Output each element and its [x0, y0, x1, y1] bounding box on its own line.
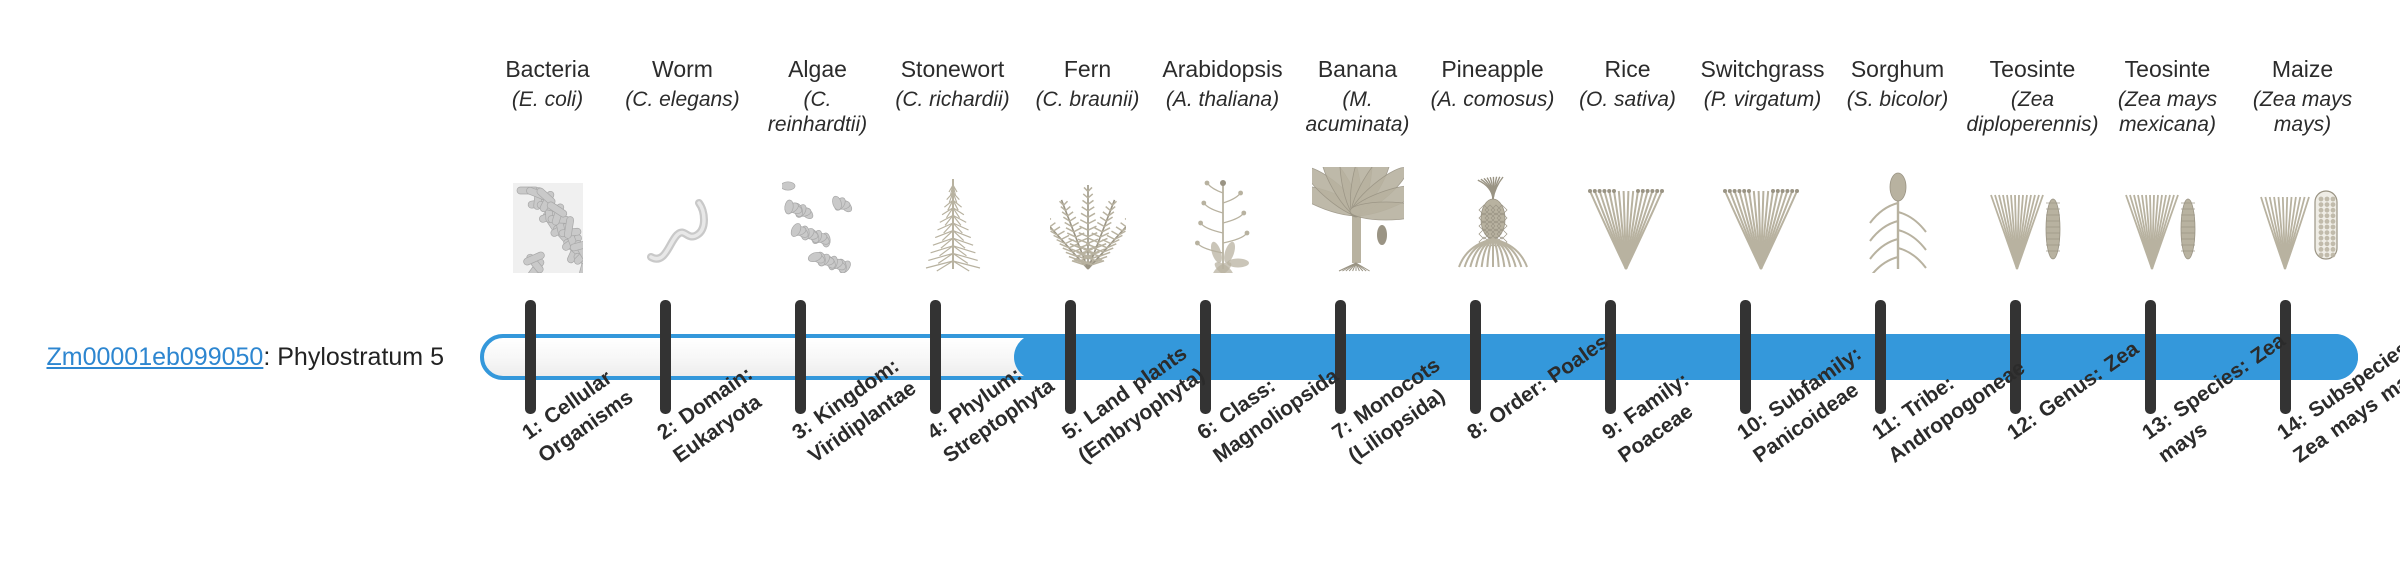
species-common-name: Algae [750, 56, 885, 82]
species-common-name: Worm [615, 56, 750, 82]
rice-grass-icon [1560, 168, 1695, 273]
species-column: Arabidopsis(A. thaliana) [1155, 56, 1290, 113]
species-scientific-name: (Zea diploperennis) [1965, 88, 2100, 136]
species-common-name: Fern [1020, 56, 1155, 82]
gene-phylostratum-value: Phylostratum 5 [277, 343, 444, 371]
species-column: Fern(C. braunii) [1020, 56, 1155, 113]
teosinte-diplo-icon [1965, 168, 2100, 273]
species-column: Teosinte(Zea mays mexicana) [2100, 56, 2235, 137]
stratum-number: 4: [923, 415, 952, 445]
species-column: Teosinte(Zea diploperennis) [1965, 56, 2100, 137]
species-common-name: Switchgrass [1695, 56, 1830, 82]
species-column: Maize(Zea mays mays) [2235, 56, 2370, 137]
species-scientific-name: (A. comosus) [1425, 88, 1560, 112]
species-common-name: Bacteria [480, 56, 615, 82]
stratum-number: 9: [1598, 415, 1627, 445]
stratum-number: 5: [1058, 415, 1087, 445]
species-scientific-name: (M. acuminata) [1290, 88, 1425, 136]
species-scientific-name: (C. elegans) [615, 88, 750, 112]
stratum-number: 7: [1328, 415, 1357, 445]
species-common-name: Rice [1560, 56, 1695, 82]
species-scientific-name: (C. richardii) [885, 88, 1020, 112]
species-scientific-name: (A. thaliana) [1155, 88, 1290, 112]
stratum-number: 2: [653, 415, 682, 445]
species-column: Banana(M. acuminata) [1290, 56, 1425, 137]
arabidopsis-plant-icon [1155, 168, 1290, 273]
gene-phylostratum-label: Zm00001eb099050: Phylostratum 5 [24, 344, 444, 372]
banana-tree-icon [1290, 168, 1425, 273]
species-scientific-name: (C. braunii) [1020, 88, 1155, 112]
species-scientific-name: (E. coli) [480, 88, 615, 112]
stratum-rank: Cellular Organisms [534, 366, 637, 467]
stratum-rank: Family: Poaceae [1614, 368, 1697, 467]
fern-frond-icon [1020, 168, 1155, 273]
species-common-name: Teosinte [2100, 56, 2235, 82]
nematode-worm-icon [615, 168, 750, 273]
species-scientific-name: (Zea mays mays) [2235, 88, 2370, 136]
teosinte-mexicana-icon [2100, 168, 2235, 273]
species-header-row: Bacteria(E. coli)Worm(C. elegans) Algae(… [480, 56, 2358, 316]
gene-id-link[interactable]: Zm00001eb099050 [46, 343, 263, 371]
species-column: Switchgrass(P. virgatum) [1695, 56, 1830, 113]
species-column: Rice(O. sativa) [1560, 56, 1695, 113]
stratum-tick [525, 300, 536, 414]
species-common-name: Pineapple [1425, 56, 1560, 82]
species-column: Algae(C. reinhardtii) [750, 56, 885, 137]
species-column: Pineapple(A. comosus) [1425, 56, 1560, 113]
species-common-name: Teosinte [1965, 56, 2100, 82]
species-common-name: Stonewort [885, 56, 1020, 82]
species-column: Sorghum(S. bicolor) [1830, 56, 1965, 113]
species-common-name: Banana [1290, 56, 1425, 82]
sorghum-plant-icon [1830, 168, 1965, 273]
stratum-number: 1: [518, 415, 547, 445]
species-scientific-name: (C. reinhardtii) [750, 88, 885, 136]
species-scientific-name: (O. sativa) [1560, 88, 1695, 112]
gene-label-separator: : [263, 343, 277, 371]
pineapple-plant-icon [1425, 168, 1560, 273]
species-common-name: Arabidopsis [1155, 56, 1290, 82]
stratum-number: 3: [788, 415, 817, 445]
stonewort-plant-icon [885, 168, 1020, 273]
bacteria-rods-icon [480, 168, 615, 273]
phylostratum-timeline-figure: Zm00001eb099050: Phylostratum 5 Bacteria… [0, 0, 2400, 580]
species-scientific-name: (S. bicolor) [1830, 88, 1965, 112]
species-column: Bacteria(E. coli) [480, 56, 615, 113]
species-column: Worm(C. elegans) [615, 56, 750, 113]
species-common-name: Sorghum [1830, 56, 1965, 82]
switchgrass-icon [1695, 168, 1830, 273]
species-common-name: Maize [2235, 56, 2370, 82]
species-scientific-name: (P. virgatum) [1695, 88, 1830, 112]
algae-cells-icon [750, 168, 885, 273]
stratum-number: 8: [1463, 415, 1492, 445]
stratum-number: 12: [2003, 408, 2041, 444]
maize-ear-icon [2235, 168, 2370, 273]
stratum-number: 6: [1193, 415, 1222, 445]
species-column: Stonewort(C. richardii) [885, 56, 1020, 113]
species-scientific-name: (Zea mays mexicana) [2100, 88, 2235, 136]
